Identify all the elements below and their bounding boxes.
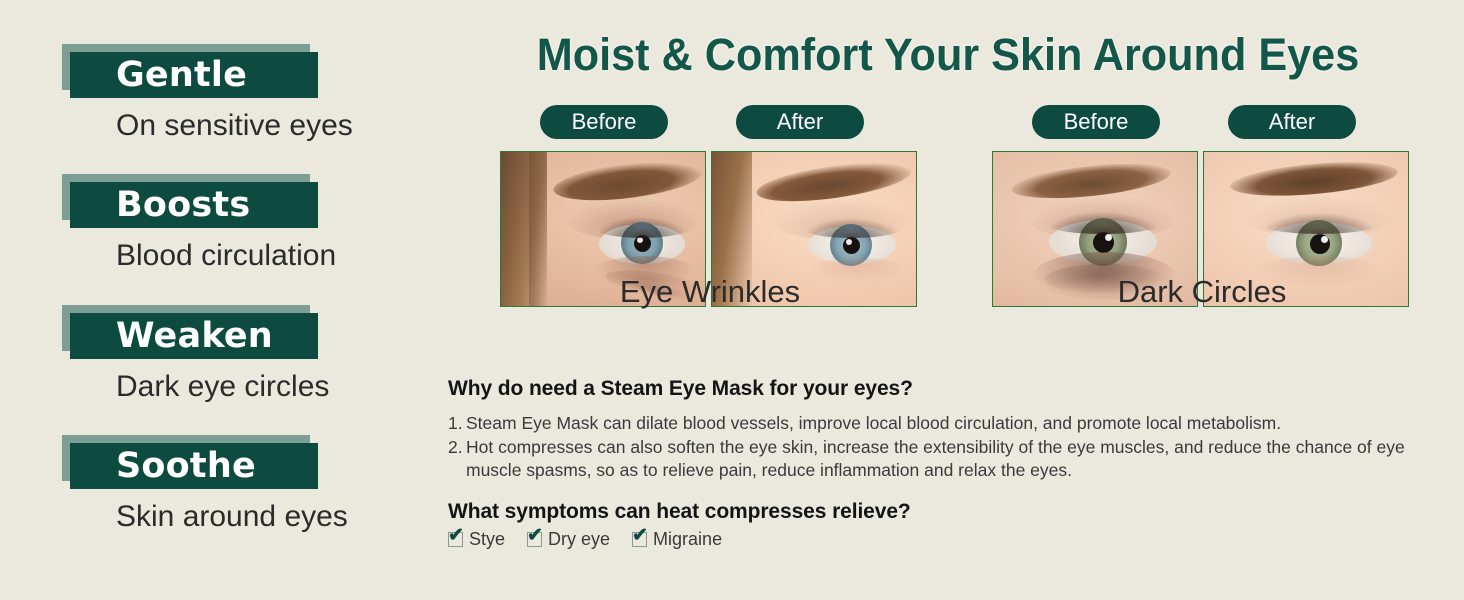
question-heading-why: Why do need a Steam Eye Mask for your ey… xyxy=(448,378,1448,399)
feature-badge-label: Gentle xyxy=(116,58,247,93)
checkbox-item-dry-eye[interactable]: ✔ Dry eye xyxy=(527,530,610,548)
checkbox-label: Stye xyxy=(469,530,505,548)
feature-description: Dark eye circles xyxy=(116,372,329,402)
feature-description: On sensitive eyes xyxy=(116,111,353,141)
checkmark-icon: ✔ xyxy=(527,526,543,545)
feature-badge-label: Boosts xyxy=(116,188,250,223)
badge-body: Boosts xyxy=(70,182,318,228)
checkbox-item-migraine[interactable]: ✔ Migraine xyxy=(632,530,722,548)
group-caption-eye-wrinkles: Eye Wrinkles xyxy=(500,276,920,307)
badge-body: Weaken xyxy=(70,313,318,359)
badge-body: Gentle xyxy=(70,52,318,98)
after-pill: After xyxy=(736,105,864,139)
question-heading-symptoms: What symptoms can heat compresses reliev… xyxy=(448,501,1448,522)
checkbox-label: Dry eye xyxy=(548,530,610,548)
checkmark-icon: ✔ xyxy=(448,526,464,545)
checkbox-item-stye[interactable]: ✔ Stye xyxy=(448,530,505,548)
features-sidebar: Gentle On sensitive eyes Boosts Blood ci… xyxy=(0,0,430,600)
list-item-number: 1. xyxy=(448,412,466,435)
checkbox-checked-icon[interactable]: ✔ xyxy=(448,532,463,547)
feature-item-gentle: Gentle On sensitive eyes xyxy=(70,52,353,141)
feature-badge: Soothe xyxy=(70,443,348,489)
list-item: 2. Hot compresses can also soften the ey… xyxy=(448,436,1448,482)
feature-badge: Boosts xyxy=(70,182,336,228)
list-item: 1. Steam Eye Mask can dilate blood vesse… xyxy=(448,412,1448,435)
feature-item-weaken: Weaken Dark eye circles xyxy=(70,313,329,402)
infographic-page: Gentle On sensitive eyes Boosts Blood ci… xyxy=(0,0,1464,600)
list-item-number: 2. xyxy=(448,436,466,482)
feature-badge-label: Weaken xyxy=(116,319,273,354)
feature-item-soothe: Soothe Skin around eyes xyxy=(70,443,348,532)
page-title: Moist & Comfort Your Skin Around Eyes xyxy=(458,32,1437,77)
feature-item-boosts: Boosts Blood circulation xyxy=(70,182,336,271)
group-caption-dark-circles: Dark Circles xyxy=(992,276,1412,307)
feature-badge: Gentle xyxy=(70,52,353,98)
symptom-checkbox-group: ✔ Stye ✔ Dry eye ✔ Migraine xyxy=(448,530,1448,548)
feature-description: Blood circulation xyxy=(116,241,336,271)
list-item-text: Steam Eye Mask can dilate blood vessels,… xyxy=(466,412,1448,435)
checkbox-checked-icon[interactable]: ✔ xyxy=(527,532,542,547)
checkbox-checked-icon[interactable]: ✔ xyxy=(632,532,647,547)
main-panel: Moist & Comfort Your Skin Around Eyes Be… xyxy=(430,0,1464,600)
before-pill: Before xyxy=(1032,105,1160,139)
after-pill: After xyxy=(1228,105,1356,139)
list-item-text: Hot compresses can also soften the eye s… xyxy=(466,436,1448,482)
feature-badge: Weaken xyxy=(70,313,329,359)
checkbox-label: Migraine xyxy=(653,530,722,548)
feature-badge-label: Soothe xyxy=(116,449,256,484)
info-text-block: Why do need a Steam Eye Mask for your ey… xyxy=(448,378,1448,548)
checkmark-icon: ✔ xyxy=(632,526,648,545)
before-pill: Before xyxy=(540,105,668,139)
badge-body: Soothe xyxy=(70,443,318,489)
feature-description: Skin around eyes xyxy=(116,502,348,532)
benefits-list: 1. Steam Eye Mask can dilate blood vesse… xyxy=(448,412,1448,482)
